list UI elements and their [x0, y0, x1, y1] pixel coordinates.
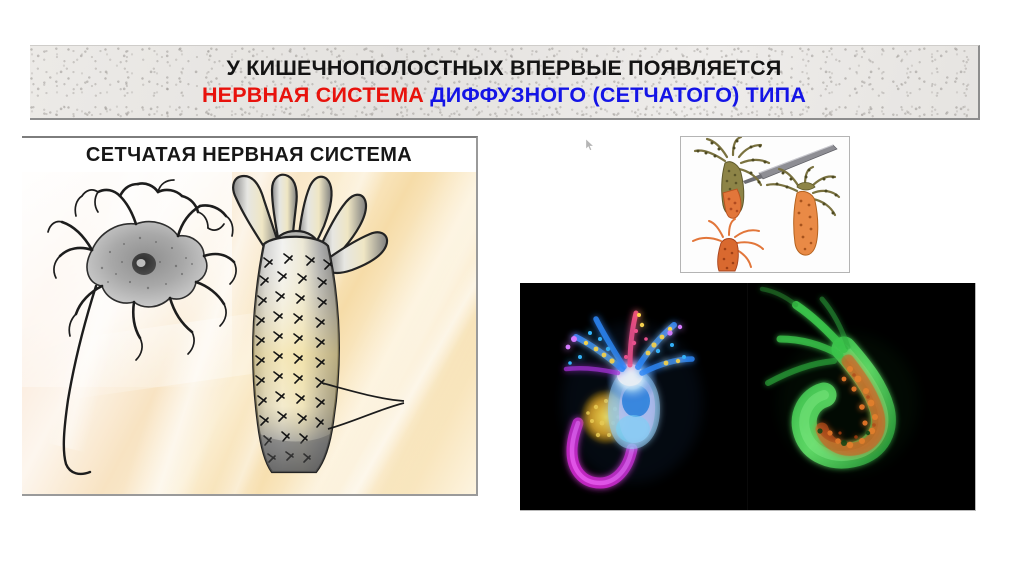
hydra-specimens-panel [680, 136, 850, 273]
fluorescence-panel [520, 283, 976, 511]
left-panel-artwork [22, 172, 476, 494]
hydra-fluorescence-green-orange [748, 283, 976, 510]
title-highlight-blue: ДИФФУЗНОГО (СЕТЧАТОГО) ТИПА [430, 83, 806, 107]
title-line-1: У КИШЕЧНОПОЛОСТНЫХ ВПЕРВЫЕ ПОЯВЛЯЕТСЯ [227, 56, 782, 81]
title-line-2: НЕРВНАЯ СИСТЕМА ДИФФУЗНОГО (СЕТЧАТОГО) Т… [202, 83, 806, 108]
mouse-pointer-icon [585, 138, 596, 152]
callout-leader-lines [322, 377, 432, 447]
neuron-diagram [40, 178, 240, 478]
hydra-specimens-photo [681, 137, 849, 272]
hydra-fluorescence-multicolor [520, 283, 747, 510]
left-panel-heading: СЕТЧАТАЯ НЕРВНАЯ СИСТЕМА [22, 138, 476, 172]
title-highlight-red: НЕРВНАЯ СИСТЕМА [202, 83, 430, 107]
title-banner: У КИШЕЧНОПОЛОСТНЫХ ВПЕРВЫЕ ПОЯВЛЯЕТСЯ НЕ… [30, 45, 980, 120]
nerve-net-figure-panel: СЕТЧАТАЯ НЕРВНАЯ СИСТЕМА [22, 136, 478, 496]
